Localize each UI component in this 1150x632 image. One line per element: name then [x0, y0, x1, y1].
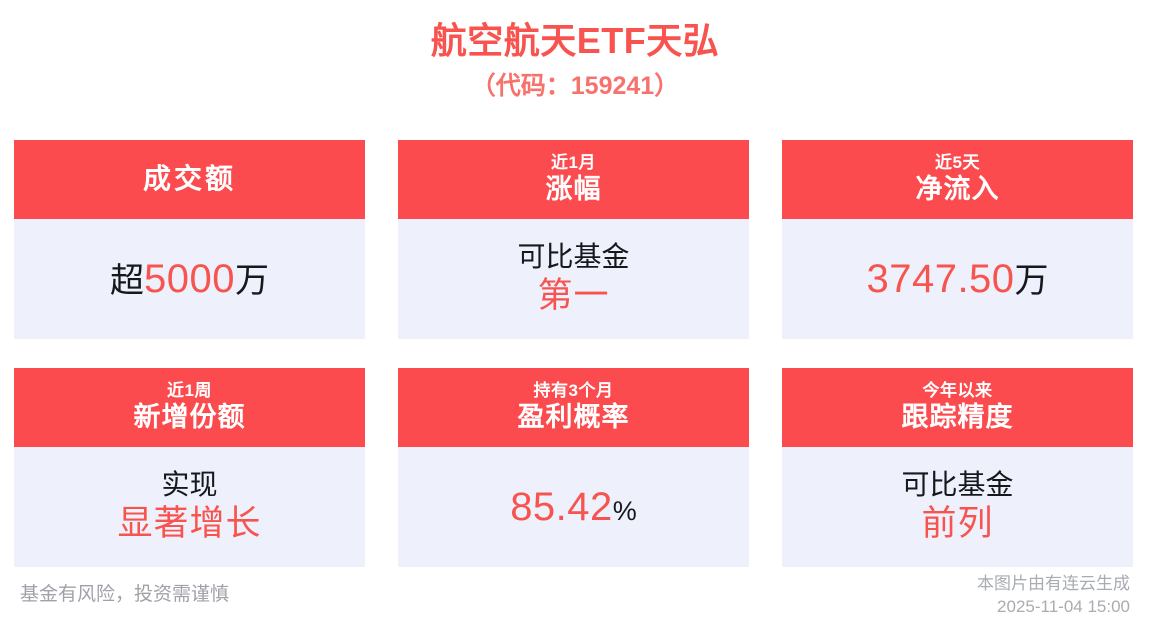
- title-block: 航空航天ETF天弘 （代码：159241）: [0, 18, 1150, 102]
- card-body: 85.42%: [398, 447, 749, 567]
- card-headline: 成交额: [143, 164, 236, 195]
- metric-card-grid: 成交额 超5000万 近1月 涨幅 可比基金 第一 近5天 净流入: [14, 140, 1136, 567]
- card-headline: 净流入: [916, 175, 1000, 205]
- fund-code-subtitle: （代码：159241）: [0, 70, 1150, 102]
- footer-attribution: 本图片由有连云生成 2025-11-04 15:00: [977, 572, 1130, 618]
- card-body: 3747.50万: [782, 219, 1133, 339]
- card-header: 今年以来 跟踪精度: [782, 368, 1133, 447]
- card-headline: 跟踪精度: [902, 403, 1014, 433]
- card-kicker: 今年以来: [923, 382, 993, 401]
- value-suffix: 万: [235, 262, 269, 301]
- card-header: 近1周 新增份额: [14, 368, 365, 447]
- card-body: 超5000万: [14, 219, 365, 339]
- metric-value: 3747.50万: [866, 256, 1048, 302]
- card-kicker: 近1月: [551, 154, 596, 173]
- card-headline: 盈利概率: [518, 403, 630, 433]
- metric-value: 超5000万: [110, 256, 269, 302]
- card-header: 成交额: [14, 140, 365, 219]
- metric-value-top: 实现: [161, 469, 217, 501]
- card-headline: 涨幅: [546, 175, 602, 205]
- card-header: 近1月 涨幅: [398, 140, 749, 219]
- value-highlight: 5000: [144, 256, 235, 302]
- metric-value: 85.42%: [510, 484, 637, 530]
- infographic-page: 航空航天ETF天弘 （代码：159241） 成交额 超5000万 近1月 涨幅 …: [0, 0, 1150, 632]
- card-header: 近5天 净流入: [782, 140, 1133, 219]
- metric-value-top: 可比基金: [901, 469, 1013, 501]
- metric-card-turnover: 成交额 超5000万: [14, 140, 365, 339]
- metric-card-new-shares: 近1周 新增份额 实现 显著增长: [14, 368, 365, 567]
- value-highlight: 85.42: [510, 484, 613, 530]
- card-kicker: 近5天: [935, 154, 980, 173]
- image-source-label: 本图片由有连云生成: [977, 572, 1130, 595]
- card-body: 可比基金 前列: [782, 447, 1133, 567]
- metric-card-monthly-gain: 近1月 涨幅 可比基金 第一: [398, 140, 749, 339]
- metric-card-profit-probability: 持有3个月 盈利概率 85.42%: [398, 368, 749, 567]
- card-header: 持有3个月 盈利概率: [398, 368, 749, 447]
- generation-timestamp: 2025-11-04 15:00: [977, 595, 1130, 618]
- metric-card-net-inflow: 近5天 净流入 3747.50万: [782, 140, 1133, 339]
- metric-card-tracking-accuracy: 今年以来 跟踪精度 可比基金 前列: [782, 368, 1133, 567]
- page-title: 航空航天ETF天弘: [0, 18, 1150, 64]
- metric-value-bottom: 显著增长: [117, 504, 261, 544]
- metric-value-bottom: 前列: [921, 504, 993, 544]
- value-highlight: 3747.50: [866, 256, 1014, 302]
- metric-value-top: 可比基金: [517, 241, 629, 273]
- value-prefix: 超: [110, 262, 144, 301]
- card-body: 实现 显著增长: [14, 447, 365, 567]
- value-unit: %: [613, 496, 637, 527]
- value-suffix: 万: [1015, 262, 1049, 301]
- card-headline: 新增份额: [134, 403, 246, 433]
- card-body: 可比基金 第一: [398, 219, 749, 339]
- card-kicker: 持有3个月: [534, 382, 614, 401]
- card-kicker: 近1周: [167, 382, 212, 401]
- metric-value-bottom: 第一: [537, 276, 609, 316]
- risk-disclaimer: 基金有风险，投资需谨慎: [20, 579, 229, 606]
